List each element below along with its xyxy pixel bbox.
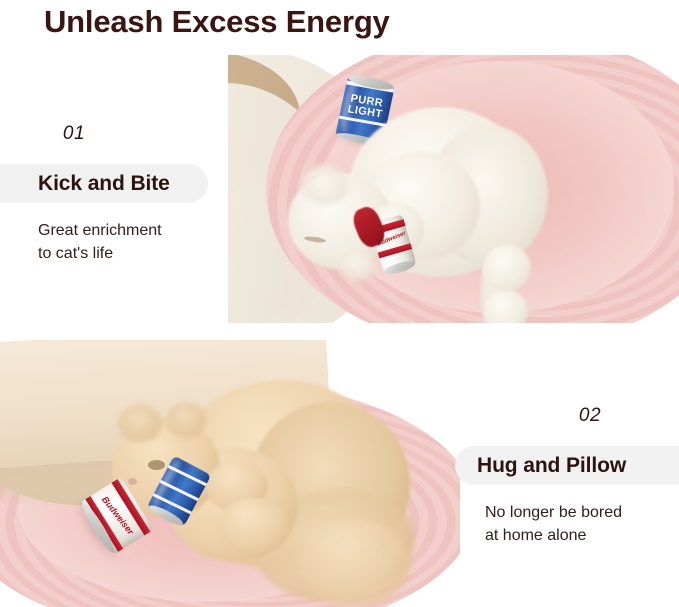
feature-description-02: No longer be bored at home alone xyxy=(455,501,679,547)
cat-ear-left xyxy=(118,404,162,442)
cat-eye xyxy=(148,460,165,470)
cat-front-paw-lower xyxy=(218,498,290,554)
feature-description-01: Great enrichment to cat's life xyxy=(0,219,220,265)
cat-hind-paw xyxy=(483,245,531,291)
feature-photo-kick-and-bite: PURR LIGHT Budweiser xyxy=(228,55,679,323)
feature-title-02: Hug and Pillow xyxy=(477,454,626,478)
feature-block-02: 02 Hug and Pillow No longer be bored at … xyxy=(455,404,679,547)
cat-paw-pad xyxy=(341,251,375,281)
feature-title-pill-01: Kick and Bite xyxy=(0,164,208,203)
feature-title-pill-02: Hug and Pillow xyxy=(455,446,679,485)
feature-number-02: 02 xyxy=(455,404,679,428)
cat-ear xyxy=(302,165,348,205)
feature-title-01: Kick and Bite xyxy=(38,172,170,196)
cat-tail-tip xyxy=(300,520,410,606)
page-title: Unleash Excess Energy xyxy=(44,0,390,44)
cat-ear-right xyxy=(166,402,206,438)
feature-photo-hug-and-pillow: Budweiser xyxy=(0,340,460,607)
feature-block-01: 01 Kick and Bite Great enrichment to cat… xyxy=(0,122,220,265)
feature-number-01: 01 xyxy=(0,122,220,146)
cat-nose xyxy=(128,478,137,485)
